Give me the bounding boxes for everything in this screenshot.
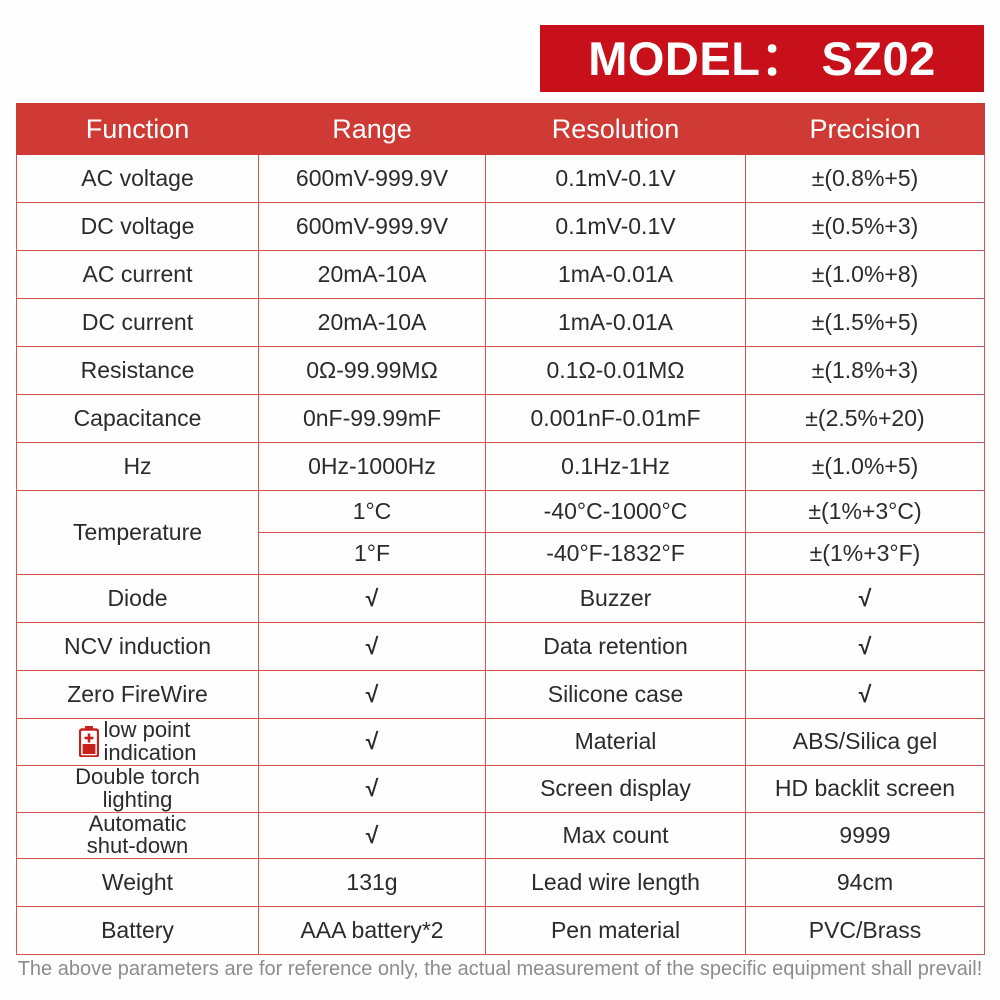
check-icon: √ [259,765,486,812]
cell-range: 0Hz-1000Hz [259,443,486,491]
label-line-1: Double torch [75,764,200,789]
cell-precision: ±(1.0%+8) [746,251,985,299]
cell-function: Hz [17,443,259,491]
table-row-feature-autoshutdown: Automatic shut-down √ Max count 9999 [17,812,985,859]
cell-feature-label-left: Zero FireWire [17,671,259,719]
cell-value-left: AAA battery*2 [259,907,486,955]
cell-resolution: 0.1mV-0.1V [486,155,746,203]
cell-function: DC voltage [17,203,259,251]
label-line-2: lighting [103,787,173,812]
cell-feature-value-right: HD backlit screen [746,765,985,812]
table-row-feature: Diode √ Buzzer √ [17,575,985,623]
cell-precision: ±(0.5%+3) [746,203,985,251]
cell-feature-label-left: NCV induction [17,623,259,671]
cell-range: 0nF-99.99mF [259,395,486,443]
cell-label-left: Battery [17,907,259,955]
cell-function-temperature: Temperature [17,491,259,575]
cell-feature-label-left: Diode [17,575,259,623]
column-header-range: Range [259,104,486,155]
check-icon: √ [746,575,985,623]
table-row-weight: Weight 131g Lead wire length 94cm [17,859,985,907]
cell-feature-label-right: Buzzer [486,575,746,623]
cell-feature-label-right: Data retention [486,623,746,671]
cell-feature-value-right: ABS/Silica gel [746,719,985,766]
cell-resolution: 0.1Ω-0.01MΩ [486,347,746,395]
specification-table: Function Range Resolution Precision AC v… [16,103,985,955]
column-header-resolution: Resolution [486,104,746,155]
cell-feature-label-right: Material [486,719,746,766]
cell-range: 0Ω-99.99MΩ [259,347,486,395]
table-row-temperature-c: Temperature 1°C -40°C-1000°C ±(1%+3°C) [17,491,985,533]
table-row: Resistance 0Ω-99.99MΩ 0.1Ω-0.01MΩ ±(1.8%… [17,347,985,395]
label-line-2: indication [104,740,197,765]
table-row-battery: Battery AAA battery*2 Pen material PVC/B… [17,907,985,955]
cell-precision: ±(1.5%+5) [746,299,985,347]
cell-function: Capacitance [17,395,259,443]
table-row: DC current 20mA-10A 1mA-0.01A ±(1.5%+5) [17,299,985,347]
cell-resolution: 0.1mV-0.1V [486,203,746,251]
check-icon: √ [746,671,985,719]
cell-value-right: PVC/Brass [746,907,985,955]
cell-precision: ±(1.8%+3) [746,347,985,395]
cell-precision: ±(1%+3°F) [746,533,985,575]
column-header-function: Function [17,104,259,155]
cell-label-right: Pen material [486,907,746,955]
cell-label-right: Lead wire length [486,859,746,907]
cell-function: AC voltage [17,155,259,203]
column-header-precision: Precision [746,104,985,155]
check-icon: √ [259,812,486,859]
cell-range: 600mV-999.9V [259,203,486,251]
cell-feature-label-right: Max count [486,812,746,859]
cell-resolution: -40°F-1832°F [486,533,746,575]
check-icon: √ [259,719,486,766]
model-banner: MODEL： SZ02 [540,25,984,92]
table-row-feature: Zero FireWire √ Silicone case √ [17,671,985,719]
cell-function: DC current [17,299,259,347]
model-banner-text: MODEL： SZ02 [588,35,936,82]
cell-precision: ±(2.5%+20) [746,395,985,443]
cell-function: AC current [17,251,259,299]
table-row-feature: NCV induction √ Data retention √ [17,623,985,671]
check-icon: √ [259,671,486,719]
table-row: AC voltage 600mV-999.9V 0.1mV-0.1V ±(0.8… [17,155,985,203]
cell-feature-label-right: Screen display [486,765,746,812]
cell-feature-value-right: 9999 [746,812,985,859]
check-icon: √ [746,623,985,671]
cell-range: 1°F [259,533,486,575]
cell-function: Resistance [17,347,259,395]
table-header-row: Function Range Resolution Precision [17,104,985,155]
label-line-1: Automatic [89,811,187,836]
cell-feature-label-left: low point indication [17,719,259,766]
cell-precision: ±(1.0%+5) [746,443,985,491]
cell-range: 600mV-999.9V [259,155,486,203]
cell-feature-label-right: Silicone case [486,671,746,719]
table-row-feature-battery: low point indication √ Material ABS/Sili… [17,719,985,766]
cell-feature-label-left: Double torch lighting [17,765,259,812]
cell-label-left: Weight [17,859,259,907]
cell-precision: ±(0.8%+5) [746,155,985,203]
check-icon: √ [259,623,486,671]
cell-value-right: 94cm [746,859,985,907]
check-icon: √ [259,575,486,623]
cell-resolution: 1mA-0.01A [486,251,746,299]
label-line-2: shut-down [87,833,189,858]
cell-value-left: 131g [259,859,486,907]
table-row: Capacitance 0nF-99.99mF 0.001nF-0.01mF ±… [17,395,985,443]
cell-resolution: 0.001nF-0.01mF [486,395,746,443]
cell-precision: ±(1%+3°C) [746,491,985,533]
cell-range: 20mA-10A [259,251,486,299]
cell-range: 1°C [259,491,486,533]
battery-low-icon [79,726,99,757]
table-row: DC voltage 600mV-999.9V 0.1mV-0.1V ±(0.5… [17,203,985,251]
table-row: AC current 20mA-10A 1mA-0.01A ±(1.0%+8) [17,251,985,299]
cell-feature-label-left: Automatic shut-down [17,812,259,859]
footer-disclaimer: The above parameters are for reference o… [16,958,984,981]
label-line-1: low point [104,717,191,742]
cell-resolution: -40°C-1000°C [486,491,746,533]
table-row: Hz 0Hz-1000Hz 0.1Hz-1Hz ±(1.0%+5) [17,443,985,491]
cell-resolution: 1mA-0.01A [486,299,746,347]
cell-resolution: 0.1Hz-1Hz [486,443,746,491]
cell-range: 20mA-10A [259,299,486,347]
table-row-feature-torch: Double torch lighting √ Screen display H… [17,765,985,812]
cell-feature-label-left-text: low point indication [104,719,197,765]
spec-sheet-page: MODEL： SZ02 Function Range Resolution Pr… [0,0,1000,1000]
